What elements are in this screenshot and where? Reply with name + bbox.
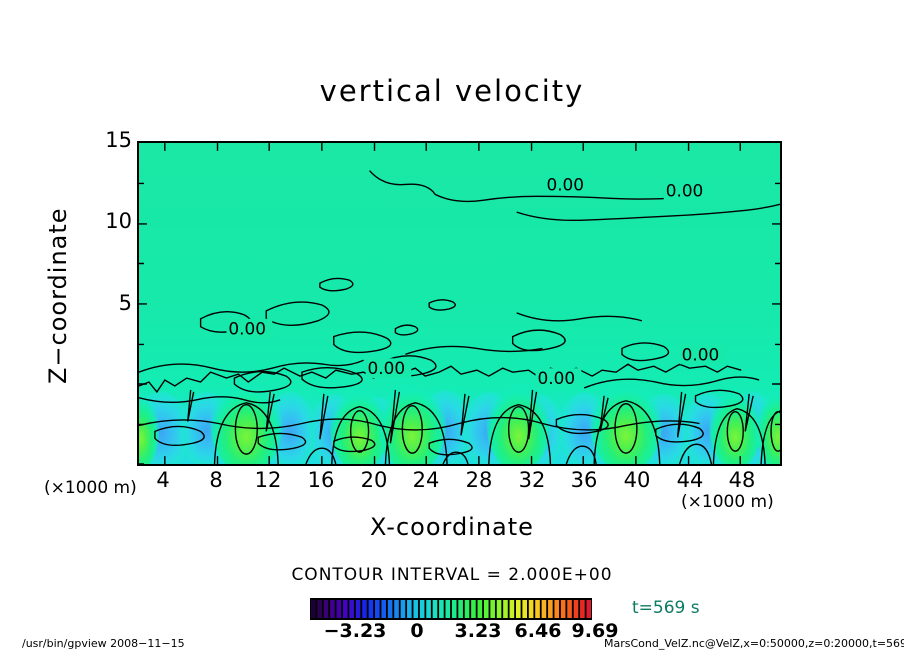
y-axis-title: Z−coordinate [44,224,72,384]
x-axis-unit-left: (×1000 m) [44,478,137,498]
x-tick-16: 16 [308,468,335,492]
colorbar-tick-labels: −3.23 0 3.23 6.46 9.69 [310,620,592,642]
contour-label: 0.00 [546,174,584,194]
contour-interval-caption: CONTOUR INTERVAL = 2.000E+00 [0,565,904,585]
x-tick-4: 4 [156,468,169,492]
footer-command-date: /usr/bin/gpview 2008−11−15 [22,637,185,650]
contour-label: 0.00 [538,368,576,388]
time-label: t=569 s [632,598,700,618]
x-axis-title: X-coordinate [0,513,904,541]
colorbar-tick-323: 3.23 [455,620,502,642]
x-tick-28: 28 [466,468,493,492]
x-tick-32: 32 [519,468,546,492]
contour-plot-canvas: 0.00 0.00 0.00 0.00 0.00 0.00 [139,143,780,464]
contour-label: 0.00 [666,180,704,200]
x-tick-20: 20 [361,468,388,492]
plot-area[interactable]: 0.00 0.00 0.00 0.00 0.00 0.00 [137,141,782,466]
page-title: vertical velocity [0,74,904,108]
x-tick-36: 36 [571,468,598,492]
y-tick-15: 15 [92,130,132,151]
x-tick-40: 40 [624,468,651,492]
colorbar-tick-0: 0 [410,620,423,642]
colorbar[interactable] [310,598,592,620]
x-tick-24: 24 [413,468,440,492]
x-tick-48: 48 [729,468,756,492]
x-tick-12: 12 [255,468,282,492]
x-tick-8: 8 [209,468,222,492]
colorbar-gradient [310,598,592,620]
colorbar-tick-646: 6.46 [515,620,562,642]
contour-label: 0.00 [368,358,406,378]
footer-dataset-info: MarsCond_VelZ.nc@VelZ,x=0:50000,z=0:2000… [604,637,904,650]
x-tick-44: 44 [677,468,704,492]
x-axis-tick-labels: 4 8 12 16 20 24 28 32 36 40 44 48 [137,468,782,494]
colorbar-tick-neg323: −3.23 [324,620,387,642]
x-axis-unit-right: (×1000 m) [681,492,774,512]
contour-label: 0.00 [682,344,720,364]
y-tick-10: 10 [92,211,132,232]
y-axis-tick-labels: 15 10 5 [88,141,132,466]
contour-label: 0.00 [228,319,266,339]
y-tick-5: 5 [92,293,132,314]
